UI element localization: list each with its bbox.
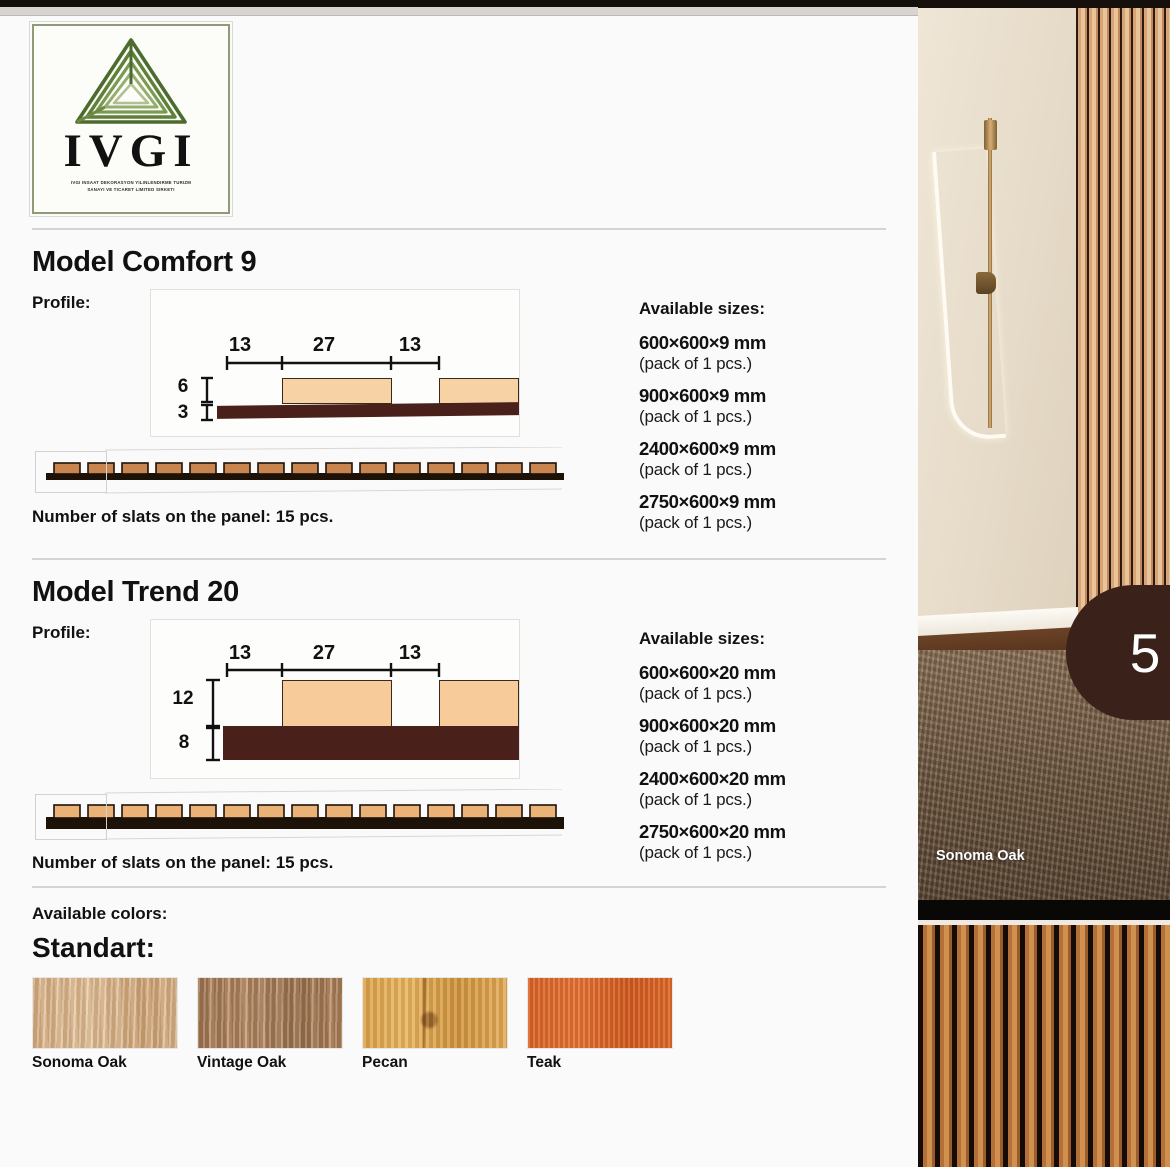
swatch-teak[interactable] [527, 977, 673, 1049]
profile-slat-main-comfort-9 [282, 378, 392, 404]
swatch-cell-teak[interactable]: Teak [527, 977, 673, 1072]
panel-strip-svg-comfort-9 [32, 447, 575, 499]
photo-sconce-hub [976, 272, 996, 294]
size-value: 2750×600×9 mm [639, 491, 857, 513]
divider-between-models [32, 558, 886, 560]
zoom-callout-box-comfort-9 [35, 451, 107, 493]
size-value: 600×600×9 mm [639, 332, 857, 354]
size-item: 900×600×9 mm (pack of 1 pcs.) [639, 385, 857, 427]
panel-strip-trend-20 [32, 789, 575, 845]
profile-slat-next-comfort-9 [439, 378, 519, 404]
swatch-name: Vintage Oak [197, 1054, 343, 1072]
screenshot-root: IVGI IVGI INSAAT DEKORASYON YILINLENDIRM… [0, 0, 1170, 1167]
size-pack: (pack of 1 pcs.) [639, 460, 857, 480]
divider-before-colors [32, 886, 886, 888]
closeup-slat-texture [918, 925, 1170, 1167]
swatch-name: Pecan [362, 1054, 508, 1072]
top-gray-bar [0, 7, 918, 16]
slat-count-note-comfort-9: Number of slats on the panel: 15 pcs. [32, 507, 607, 527]
sizes-column-comfort-9: Available sizes: 600×600×9 mm (pack of 1… [607, 289, 857, 544]
swatch-cell-vintage-oak[interactable]: Vintage Oak [197, 977, 343, 1072]
size-item: 2400×600×9 mm (pack of 1 pcs.) [639, 438, 857, 480]
available-colors-label: Available colors: [32, 904, 886, 924]
size-pack: (pack of 1 pcs.) [639, 790, 857, 810]
size-pack: (pack of 1 pcs.) [639, 684, 857, 704]
swatch-pecan[interactable] [362, 977, 508, 1049]
profile-diagram-comfort-9: 13 27 13 [150, 289, 520, 437]
size-pack: (pack of 1 pcs.) [639, 737, 857, 757]
photo-column: 5 Sonoma Oak [918, 0, 1170, 1167]
size-item: 2750×600×20 mm (pack of 1 pcs.) [639, 821, 857, 863]
profile-row-trend-20: Profile: 13 27 13 [32, 619, 607, 779]
dim-height-3-comfort-9: 3 [169, 402, 197, 424]
size-value: 2750×600×20 mm [639, 821, 857, 843]
zoom-callout-box-trend-20 [35, 794, 107, 840]
photo-caption: Sonoma Oak [936, 848, 1025, 864]
dim-height-8-trend-20: 8 [169, 732, 199, 754]
photo-slat-wall-panel [1076, 8, 1170, 668]
profile-label-trend-20: Profile: [32, 619, 150, 643]
catalog-page: IVGI IVGI INSAAT DEKORASYON YILINLENDIRM… [0, 16, 918, 1167]
size-pack: (pack of 1 pcs.) [639, 513, 857, 533]
profile-base-trend-20 [223, 726, 519, 760]
photo-sconce-cap [984, 120, 997, 150]
brand-wordmark: IVGI [63, 128, 198, 175]
sizes-title-comfort-9: Available sizes: [639, 299, 857, 319]
divider-after-logo [32, 228, 886, 230]
size-pack: (pack of 1 pcs.) [639, 354, 857, 374]
profile-label-comfort-9: Profile: [32, 289, 150, 313]
colors-group-title: Standart: [32, 932, 886, 964]
slat-closeup-photo[interactable] [918, 920, 1170, 1167]
size-pack: (pack of 1 pcs.) [639, 843, 857, 863]
model-title-comfort-9: Model Comfort 9 [32, 246, 886, 279]
sizes-column-trend-20: Available sizes: 600×600×20 mm (pack of … [607, 619, 857, 874]
panel-strip-svg-trend-20 [32, 789, 575, 845]
size-value: 600×600×20 mm [639, 662, 857, 684]
triangle-maze-logo-icon [71, 34, 191, 126]
swatch-name: Sonoma Oak [32, 1054, 178, 1072]
photo-badge-number: 5 [1130, 621, 1161, 685]
size-value: 900×600×20 mm [639, 715, 857, 737]
photo-wall [918, 8, 1078, 628]
size-item: 2400×600×20 mm (pack of 1 pcs.) [639, 768, 857, 810]
profile-row-comfort-9: Profile: 13 27 13 [32, 289, 607, 437]
model-left-column-comfort-9: Profile: 13 27 13 [32, 289, 607, 527]
model-section-trend-20: Profile: 13 27 13 [32, 619, 886, 874]
brand-legal-line-1: IVGI INSAAT DEKORASYON YILINLENDIRME TUR… [46, 180, 216, 186]
dim-height-6-comfort-9: 6 [169, 376, 197, 398]
color-swatch-row: Sonoma Oak Vintage Oak Pecan Teak [32, 977, 886, 1072]
model-section-comfort-9: Profile: 13 27 13 [32, 289, 886, 544]
slat-count-note-trend-20: Number of slats on the panel: 15 pcs. [32, 853, 607, 873]
swatch-sonoma-oak[interactable] [32, 977, 178, 1049]
swatch-cell-sonoma-oak[interactable]: Sonoma Oak [32, 977, 178, 1072]
interior-photo[interactable]: 5 Sonoma Oak [918, 0, 1170, 900]
swatch-name: Teak [527, 1054, 673, 1072]
profile-diagram-trend-20: 13 27 13 [150, 619, 520, 779]
size-value: 2400×600×20 mm [639, 768, 857, 790]
size-item: 600×600×9 mm (pack of 1 pcs.) [639, 332, 857, 374]
size-value: 2400×600×9 mm [639, 438, 857, 460]
panel-strip-comfort-9 [32, 447, 575, 499]
brand-logo-box: IVGI IVGI INSAAT DEKORASYON YILINLENDIRM… [32, 24, 230, 214]
swatch-vintage-oak[interactable] [197, 977, 343, 1049]
model-left-column-trend-20: Profile: 13 27 13 [32, 619, 607, 873]
sizes-title-trend-20: Available sizes: [639, 629, 857, 649]
photo-top-edge [918, 0, 1170, 8]
size-item: 600×600×20 mm (pack of 1 pcs.) [639, 662, 857, 704]
top-dark-bar [0, 0, 918, 7]
size-pack: (pack of 1 pcs.) [639, 407, 857, 427]
brand-legal-line-2: SANAYI VE TICARET LIMITED SIRKETI [46, 187, 216, 193]
size-item: 2750×600×9 mm (pack of 1 pcs.) [639, 491, 857, 533]
size-item: 900×600×20 mm (pack of 1 pcs.) [639, 715, 857, 757]
profile-slat-next-trend-20 [439, 680, 519, 727]
model-title-trend-20: Model Trend 20 [32, 576, 886, 609]
size-value: 900×600×9 mm [639, 385, 857, 407]
profile-slat-main-trend-20 [282, 680, 392, 727]
dim-height-12-trend-20: 12 [165, 688, 201, 710]
swatch-cell-pecan[interactable]: Pecan [362, 977, 508, 1072]
